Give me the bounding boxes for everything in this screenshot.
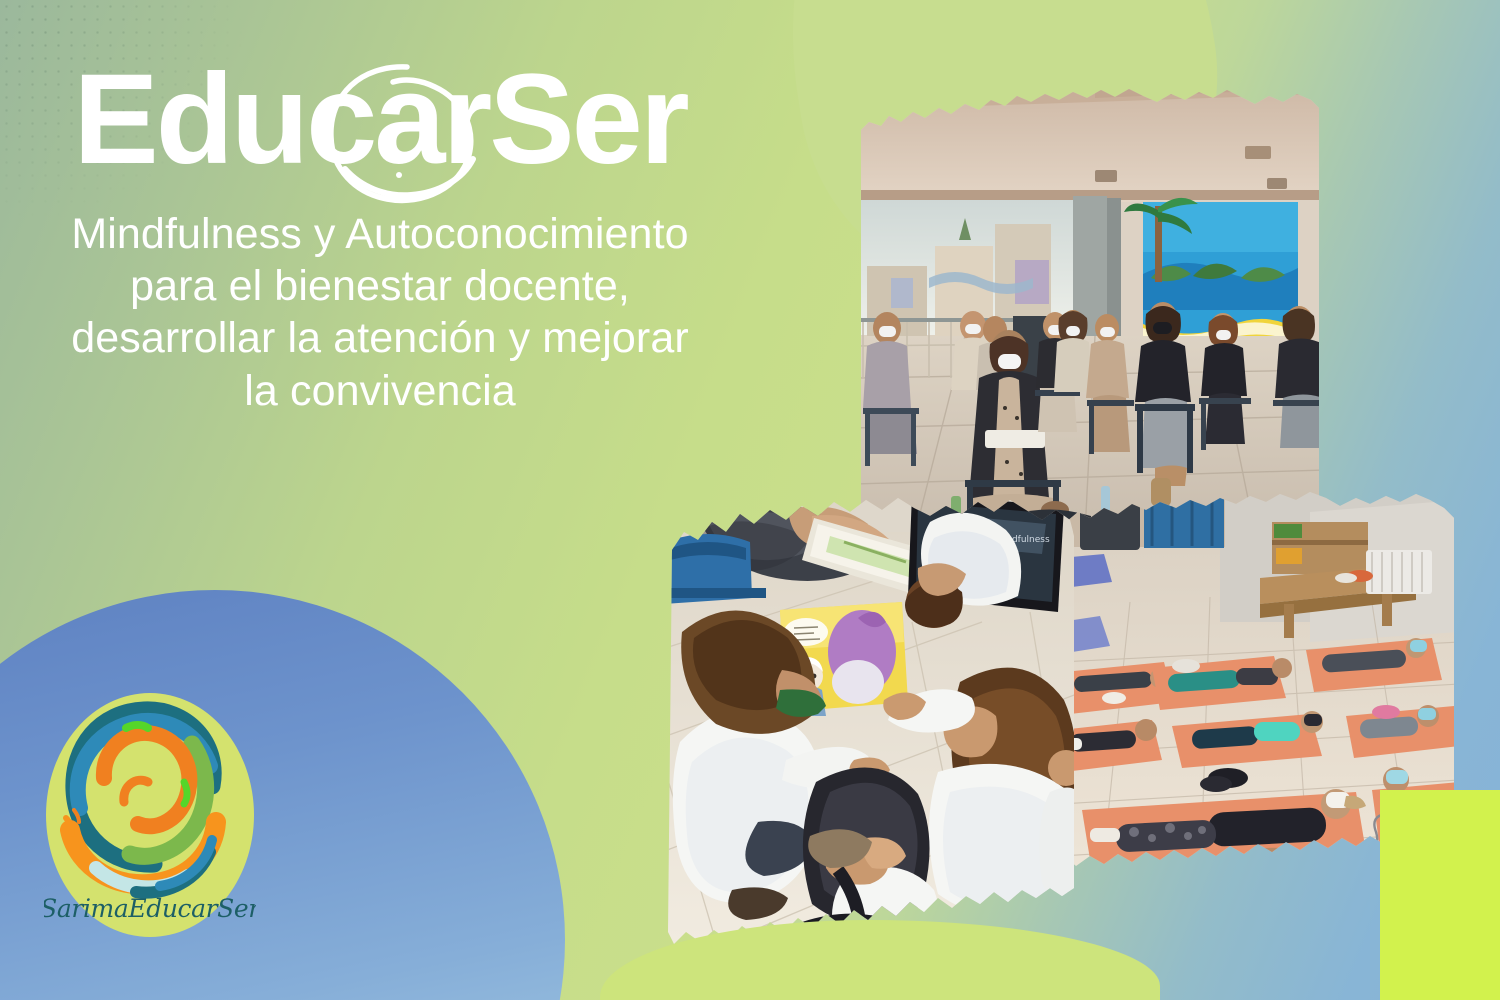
subtitle-text: Mindfulness y Autoconocimiento para el b… <box>50 208 710 418</box>
headline-block: EducarSer Mindfulness y Autoconocimiento… <box>0 55 760 417</box>
photo-children-reading: Mindfulness <box>662 492 1082 962</box>
logo-script-text: SarimaEducarSer <box>44 894 256 923</box>
logo-badge: SarimaEducarSer <box>44 690 256 940</box>
brand-title: EducarSer <box>73 55 686 186</box>
poster-canvas: BE <box>0 0 1500 1000</box>
photo-teachers-seated <box>855 78 1325 533</box>
brand-lockup: EducarSer <box>73 55 686 186</box>
lime-wedge-decoration <box>1380 790 1500 1000</box>
